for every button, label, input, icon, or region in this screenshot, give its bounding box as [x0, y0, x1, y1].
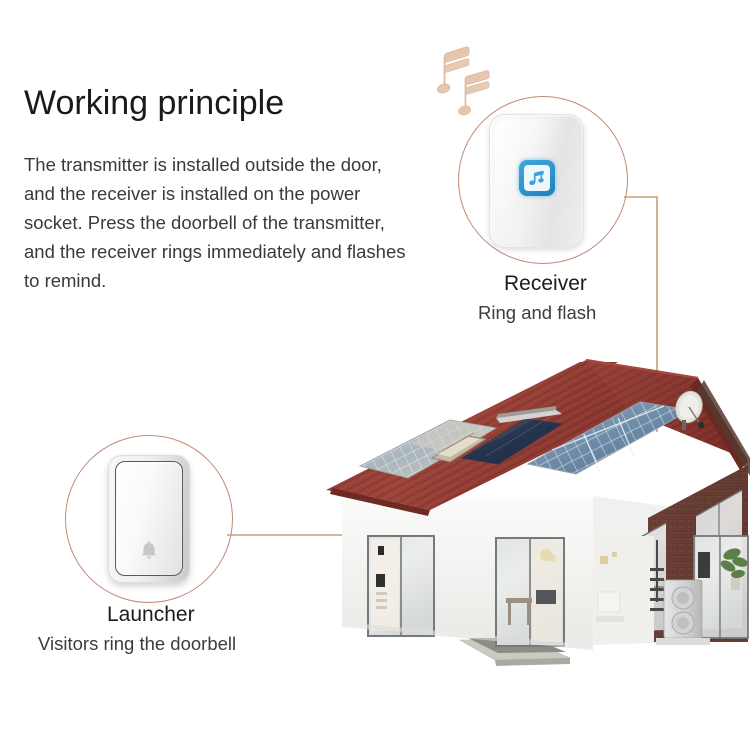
receiver-label: Receiver: [504, 272, 587, 296]
working-principle-infographic: Working principle The transmitter is ins…: [0, 0, 750, 750]
right-wing-interior: [594, 536, 664, 642]
music-note-icon: [519, 160, 555, 196]
house-illustration: [300, 340, 750, 670]
outdoor-ac-unit: [656, 580, 710, 645]
launcher-label: Launcher: [107, 603, 195, 627]
sliding-door-left: [368, 536, 434, 636]
page-title: Working principle: [24, 82, 284, 124]
bell-icon: [138, 539, 160, 561]
description-paragraph: The transmitter is installed outside the…: [24, 150, 414, 295]
sliding-door-center: [496, 538, 564, 646]
launcher-sublabel: Visitors ring the doorbell: [38, 633, 236, 655]
receiver-sublabel: Ring and flash: [478, 302, 596, 324]
launcher-button-face[interactable]: [115, 461, 183, 576]
launcher-device[interactable]: [108, 455, 190, 583]
